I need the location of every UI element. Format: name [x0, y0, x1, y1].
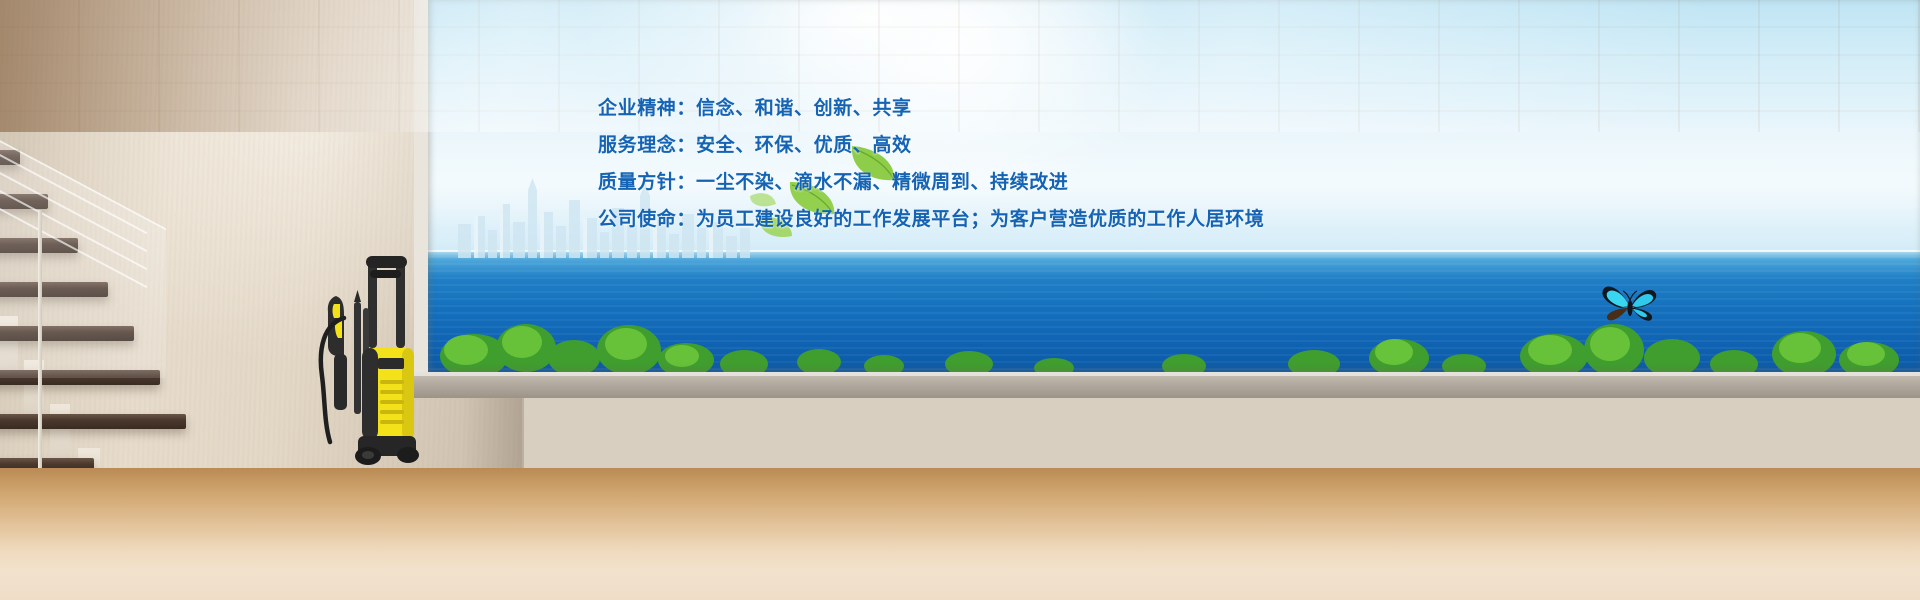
pressure-washer [310, 252, 428, 468]
floating-staircase [0, 128, 210, 468]
skirting-highlight [414, 372, 1920, 376]
wood-floor [0, 468, 1920, 600]
balustrade-post [38, 210, 42, 470]
mission-line-4: 公司使命：为员工建设良好的工作发展平台；为客户营造优质的工作人居环境 [598, 201, 1478, 238]
floor-shadow-left [0, 0, 430, 132]
corporate-culture-hero-banner: 企业精神：信念、和谐、创新、共享 服务理念：安全、环保、优质、高效 质量方针：一… [0, 0, 1920, 600]
mission-line-1: 企业精神：信念、和谐、创新、共享 [598, 90, 1478, 127]
mission-line-3: 质量方针：一尘不染、滴水不漏、精微周到、持续改进 [598, 164, 1478, 201]
foreground-foliage [414, 300, 1920, 376]
corporate-mission-text: 企业精神：信念、和谐、创新、共享 服务理念：安全、环保、优质、高效 质量方针：一… [598, 90, 1478, 238]
mission-line-2: 服务理念：安全、环保、优质、高效 [598, 127, 1478, 164]
glass-balustrade [0, 128, 170, 378]
butterfly [1599, 278, 1661, 332]
